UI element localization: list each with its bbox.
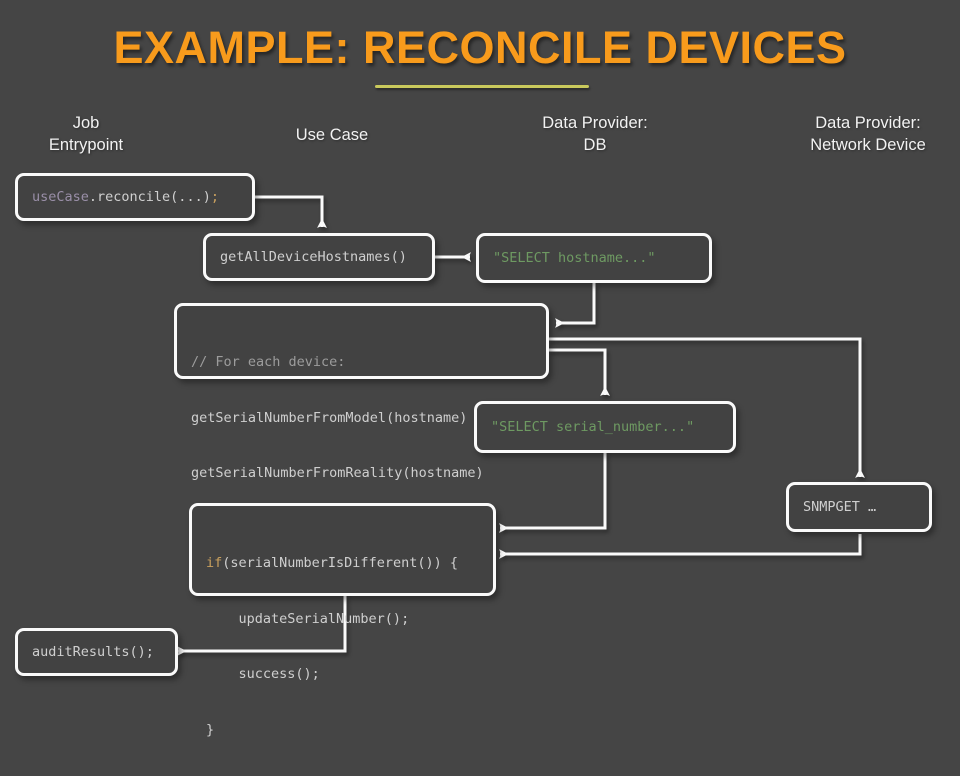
code-token-condition: (serialNumberIsDifferent()) {	[222, 555, 458, 571]
node-audit-results-call[interactable]: auditResults();	[15, 628, 178, 676]
code-line: }	[206, 721, 458, 740]
node-for-each-device-block[interactable]: // For each device: getSerialNumberFromM…	[174, 303, 549, 379]
code-line: getAllDeviceHostnames()	[220, 248, 407, 267]
column-header-use-case: Use Case	[252, 124, 412, 146]
wire-foreach-to-db-serial	[549, 350, 605, 395]
node-sql-select-hostname[interactable]: "SELECT hostname..."	[476, 233, 712, 283]
page-title: EXAMPLE: RECONCILE DEVICES	[0, 22, 960, 74]
node-if-serial-number-is-different-block[interactable]: if(serialNumberIsDifferent()) { updateSe…	[189, 503, 496, 596]
code-line: if(serialNumberIsDifferent()) {	[206, 554, 458, 573]
code-line: auditResults();	[32, 643, 154, 662]
column-header-data-provider-db: Data Provider: DB	[515, 112, 675, 156]
code-token-keyword-if: if	[206, 555, 222, 571]
title-underline-rule	[375, 85, 589, 88]
code-line: useCase.reconcile(...);	[32, 188, 219, 207]
column-header-job-entrypoint: Job Entrypoint	[6, 112, 166, 156]
code-line: updateSerialNumber();	[206, 610, 458, 629]
code-token-semicolon: ;	[211, 189, 219, 205]
node-use-case-reconcile-call[interactable]: useCase.reconcile(...);	[15, 173, 255, 221]
wire-db-serial-to-if-block	[500, 453, 605, 528]
code-line: // For each device:	[191, 353, 484, 372]
code-line: getSerialNumberFromModel(hostname)	[191, 409, 484, 428]
code-line: getSerialNumberFromReality(hostname)	[191, 464, 484, 483]
code-line: success();	[206, 665, 458, 684]
wire-entrypoint-to-usecase	[255, 197, 322, 227]
column-header-data-provider-network-device: Data Provider: Network Device	[780, 112, 956, 156]
node-snmpget-command[interactable]: SNMPGET …	[786, 482, 932, 532]
code-line: SNMPGET …	[803, 498, 876, 517]
code-block: // For each device: getSerialNumberFromM…	[191, 316, 484, 520]
node-sql-select-serial-number[interactable]: "SELECT serial_number..."	[474, 401, 736, 453]
code-line: "SELECT hostname..."	[493, 249, 656, 268]
code-token-call: .reconcile(...)	[89, 189, 211, 205]
code-line: "SELECT serial_number..."	[491, 418, 694, 437]
node-get-all-device-hostnames[interactable]: getAllDeviceHostnames()	[203, 233, 435, 281]
code-block: if(serialNumberIsDifferent()) { updateSe…	[206, 517, 458, 776]
wire-snmpget-to-if-block	[500, 534, 860, 554]
wire-db-hostnames-to-foreach	[556, 283, 594, 323]
diagram-canvas: EXAMPLE: RECONCILE DEVICES Job Entrypoin…	[0, 0, 960, 720]
code-token-identifier: useCase	[32, 189, 89, 205]
